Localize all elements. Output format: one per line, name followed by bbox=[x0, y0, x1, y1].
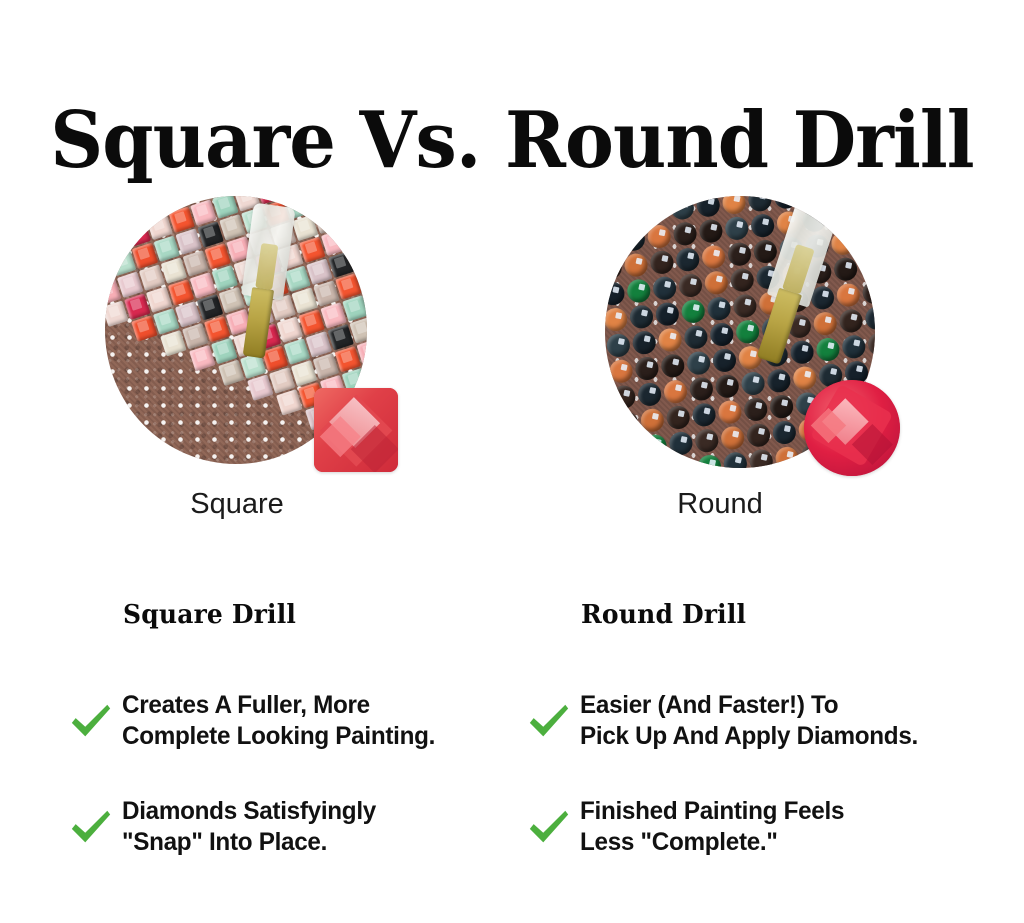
round-gem bbox=[804, 380, 900, 476]
round-photo-caption: Round bbox=[570, 487, 870, 521]
list-item: Creates A Fuller, More Complete Looking … bbox=[60, 690, 530, 752]
check-icon bbox=[526, 698, 572, 744]
list-item: Finished Painting Feels Less "Complete." bbox=[518, 796, 988, 858]
square-photo-caption: Square bbox=[87, 487, 387, 521]
square-drill-heading: Square Drill bbox=[123, 600, 514, 630]
round-drill-photo bbox=[592, 190, 892, 480]
comparison-columns: Square Drill Creates A Fuller, More Comp… bbox=[0, 600, 1024, 900]
page-title: Square Vs. Round Drill bbox=[31, 98, 994, 184]
round-drill-column: Round Drill Easier (And Faster!) To Pick… bbox=[518, 600, 988, 630]
photo-comparison-row bbox=[0, 190, 1024, 490]
square-drill-column: Square Drill Creates A Fuller, More Comp… bbox=[60, 600, 530, 630]
round-drill-heading: Round Drill bbox=[581, 600, 972, 630]
check-icon bbox=[68, 804, 114, 850]
list-item: Easier (And Faster!) To Pick Up And Appl… bbox=[518, 690, 988, 752]
check-icon bbox=[68, 698, 114, 744]
benefit-text: Finished Painting Feels Less "Complete." bbox=[580, 796, 844, 858]
pen-tip bbox=[242, 287, 274, 358]
check-icon bbox=[526, 804, 572, 850]
benefit-text: Easier (And Faster!) To Pick Up And Appl… bbox=[580, 690, 918, 752]
square-drill-photo bbox=[92, 190, 392, 480]
list-item: Diamonds Satisfyingly "Snap" Into Place. bbox=[60, 796, 530, 858]
square-gem bbox=[314, 388, 398, 472]
benefit-text: Diamonds Satisfyingly "Snap" Into Place. bbox=[122, 796, 376, 858]
benefit-text: Creates A Fuller, More Complete Looking … bbox=[122, 690, 435, 752]
